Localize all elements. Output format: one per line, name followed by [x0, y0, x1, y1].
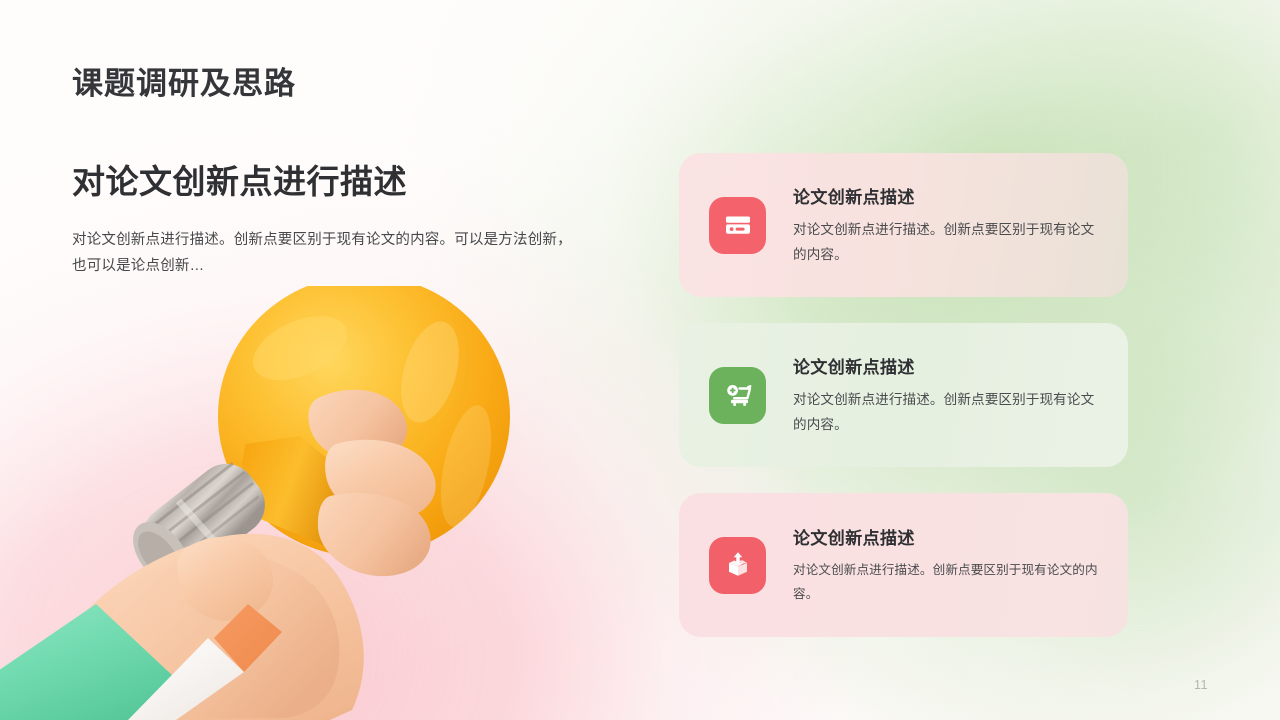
feature-card-description: 对论文创新点进行描述。创新点要区别于现有论文的内容。 — [793, 558, 1102, 606]
cart-plus-icon — [709, 367, 766, 424]
feature-card-description: 对论文创新点进行描述。创新点要区别于现有论文的内容。 — [793, 387, 1102, 437]
page-number: 11 — [1194, 678, 1208, 692]
page-title: 课题调研及思路 — [72, 58, 296, 103]
section-title: 对论文创新点进行描述 — [72, 155, 407, 203]
feature-card-description: 对论文创新点进行描述。创新点要区别于现有论文的内容。 — [793, 217, 1102, 267]
feature-card[interactable]: 论文创新点描述 对论文创新点进行描述。创新点要区别于现有论文的内容。 — [679, 153, 1128, 297]
feature-card-title: 论文创新点描述 — [793, 183, 1102, 208]
feature-card[interactable]: 论文创新点描述 对论文创新点进行描述。创新点要区别于现有论文的内容。 — [679, 493, 1128, 637]
credit-card-icon — [709, 197, 766, 254]
feature-card-title: 论文创新点描述 — [793, 353, 1102, 378]
feature-card-text: 论文创新点描述 对论文创新点进行描述。创新点要区别于现有论文的内容。 — [793, 524, 1102, 606]
slide: 课题调研及思路 对论文创新点进行描述 对论文创新点进行描述。创新点要区别于现有论… — [0, 0, 1280, 720]
feature-card-text: 论文创新点描述 对论文创新点进行描述。创新点要区别于现有论文的内容。 — [793, 353, 1102, 437]
feature-card-title: 论文创新点描述 — [793, 524, 1102, 549]
feature-card-text: 论文创新点描述 对论文创新点进行描述。创新点要区别于现有论文的内容。 — [793, 183, 1102, 267]
section-body-text: 对论文创新点进行描述。创新点要区别于现有论文的内容。可以是方法创新，也可以是论点… — [72, 227, 572, 279]
feature-card[interactable]: 论文创新点描述 对论文创新点进行描述。创新点要区别于现有论文的内容。 — [679, 323, 1128, 467]
feature-card-list: 论文创新点描述 对论文创新点进行描述。创新点要区别于现有论文的内容。 — [679, 153, 1128, 637]
box-arrow-up-icon — [709, 537, 766, 594]
